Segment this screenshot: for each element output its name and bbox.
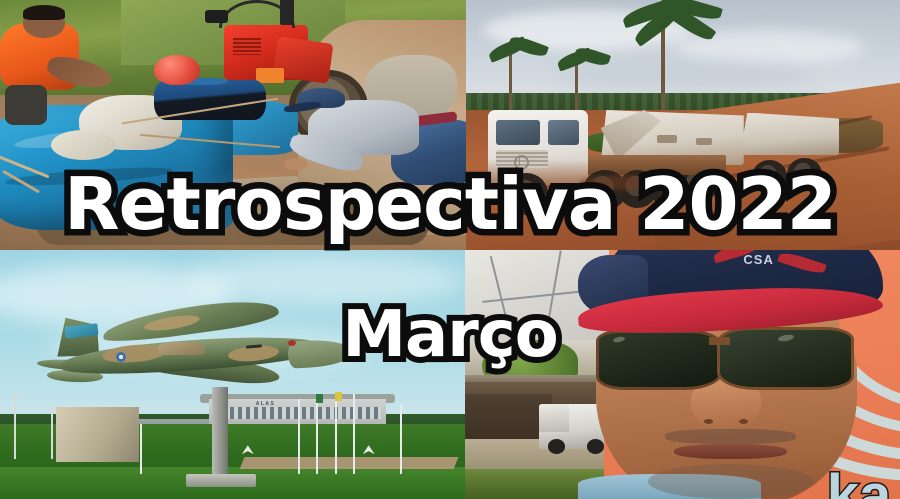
tractor-exhaust-pipe	[280, 0, 294, 25]
trailer-logo	[696, 138, 712, 145]
panel-jet-monument-airbase: ALAS	[0, 250, 465, 499]
chin-shadow	[648, 464, 813, 499]
cloud	[553, 60, 813, 90]
flagpole	[335, 392, 337, 474]
tipper-trailer-rear	[739, 113, 839, 156]
light-pole	[51, 404, 53, 459]
worker-hair	[23, 5, 65, 20]
light-pole	[14, 394, 16, 459]
cab-side-window	[548, 120, 578, 145]
palm-trunk	[509, 50, 512, 110]
stone-monolith	[56, 407, 140, 462]
pickup-wheel	[548, 439, 565, 454]
flagpole	[140, 424, 142, 474]
flagpole	[400, 404, 402, 474]
orange-container	[256, 68, 284, 83]
building-sign: ALAS	[256, 401, 276, 407]
walkway	[239, 457, 458, 469]
monument-pedestal	[212, 387, 229, 474]
red-helmet	[154, 55, 201, 85]
main-title: Retrospectiva 2022	[0, 168, 900, 240]
tractor-seat	[205, 10, 228, 23]
monument-base	[186, 474, 256, 486]
flag	[335, 392, 342, 401]
month-subtitle: Março	[0, 303, 900, 367]
panel-man-selfie: ka	[465, 250, 900, 499]
pickup-cab	[539, 404, 569, 431]
worker-leg	[5, 85, 47, 125]
trailer-logo	[657, 135, 677, 143]
wall-signage-text: ka	[827, 462, 892, 499]
white-sack-small	[51, 130, 116, 160]
mouth	[674, 444, 787, 459]
palm-trunk	[575, 60, 578, 110]
light-pole-arm	[14, 394, 23, 396]
tractor-grille	[233, 38, 261, 56]
mustache	[665, 429, 796, 444]
retrospectiva-thumbnail: ALAS	[0, 0, 900, 499]
flag	[316, 394, 323, 403]
flagpole	[316, 394, 318, 474]
flagpole	[353, 394, 355, 474]
flagpole	[298, 399, 300, 474]
cab-windshield	[496, 120, 539, 145]
cap-logo-text: CSA	[743, 252, 773, 267]
